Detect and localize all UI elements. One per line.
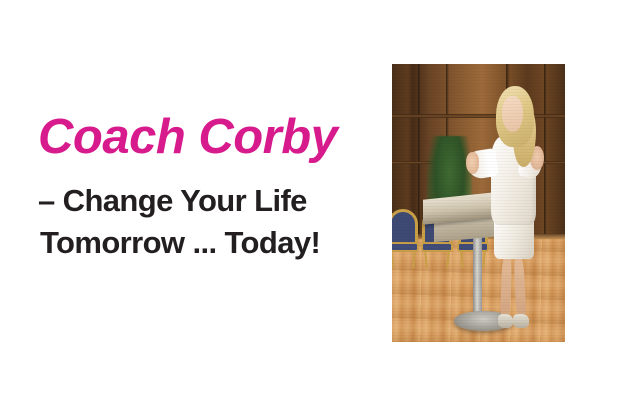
headline-block: Coach Corby – Change Your Life Tomorrow … — [38, 108, 388, 263]
tagline-line-2: Tomorrow ... Today! — [38, 222, 388, 263]
speaker-hand-left — [466, 152, 480, 174]
promo-banner: Coach Corby – Change Your Life Tomorrow … — [0, 0, 620, 420]
page-title: Coach Corby — [38, 108, 388, 166]
speaker-figure — [392, 64, 565, 342]
speaker-shoe — [513, 314, 529, 328]
photo-scene — [392, 64, 565, 342]
speaker-leg — [500, 253, 513, 320]
speaker-photo — [392, 64, 565, 342]
speaker-shoe — [498, 314, 514, 328]
speaker-face — [502, 96, 523, 132]
speaker-leg — [513, 253, 527, 320]
tagline-line-1: – Change Your Life — [38, 180, 388, 221]
